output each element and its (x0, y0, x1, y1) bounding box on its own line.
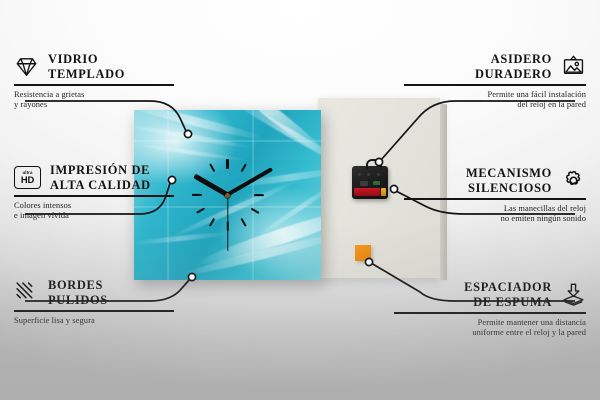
feature-desc-line1: Las manecillas del reloj (404, 204, 586, 215)
mechanism-detail (373, 181, 380, 185)
feature-title-line1: IMPRESIÓN DE (50, 163, 151, 178)
feature-asidero-duradero[interactable]: ASIDERO DURADERO Permite una fácil insta… (404, 52, 586, 111)
feature-desc-line1: Permite mantener una distancia (394, 318, 586, 329)
feature-bordes-pulidos[interactable]: BORDES PULIDOS Superficie lisa y segura (14, 278, 174, 326)
feature-title-line2: PULIDOS (48, 293, 108, 308)
feature-desc-line2: del reloj en la pared (404, 100, 586, 111)
feature-impresion-alta-calidad[interactable]: ultra HD IMPRESIÓN DE ALTA CALIDAD Color… (14, 163, 174, 222)
badge-hd-label: HD (21, 175, 34, 185)
feature-desc-line1: Resistencia a grietas (14, 90, 174, 101)
feature-title-line1: VIDRIO (48, 52, 125, 67)
feature-title-line1: ESPACIADOR (464, 280, 552, 295)
feature-desc-line1: Superficie lisa y segura (14, 316, 174, 327)
feature-desc-line2: uniforme entre el reloj y la pared (394, 328, 586, 339)
feature-title-line2: SILENCIOSO (466, 181, 552, 196)
divider (14, 195, 174, 197)
feature-desc-line2: no emiten ningún sonido (404, 214, 586, 225)
hanger-loop-icon (366, 159, 382, 170)
feature-desc-line1: Colores intensos (14, 201, 174, 212)
divider (14, 84, 174, 86)
divider (404, 198, 586, 200)
gear-icon (561, 168, 586, 193)
clock-mechanism (352, 166, 388, 199)
battery-terminal (381, 188, 386, 196)
feature-title-line2: DE ESPUMA (464, 295, 552, 310)
foam-spacer-pad (355, 245, 371, 261)
feature-header: ultra HD IMPRESIÓN DE ALTA CALIDAD (14, 163, 174, 192)
clock-center-pin (225, 193, 230, 198)
divider (404, 84, 586, 86)
mechanism-detail (358, 173, 361, 176)
diamond-icon (14, 54, 39, 79)
feature-title-line2: ALTA CALIDAD (50, 178, 151, 193)
foam-spacer-arrow-icon (561, 282, 586, 307)
feature-desc-line1: Permite una fácil instalación (404, 90, 586, 101)
feature-desc-line2: y rayones (14, 100, 174, 111)
feature-header: ESPACIADOR DE ESPUMA (394, 280, 586, 309)
feature-espaciador-de-espuma[interactable]: ESPACIADOR DE ESPUMA Permite mantener un… (394, 280, 586, 339)
infographic-canvas: VIDRIO TEMPLADO Resistencia a grietas y … (0, 0, 600, 400)
mechanism-detail (377, 173, 380, 176)
mechanism-detail (360, 181, 368, 186)
feature-header: VIDRIO TEMPLADO (14, 52, 174, 81)
feature-title-line1: BORDES (48, 278, 108, 293)
feature-mecanismo-silencioso[interactable]: MECANISMO SILENCIOSO Las manecillas del … (404, 166, 586, 225)
feature-title-line2: DURADERO (475, 67, 552, 82)
feature-vidrio-templado[interactable]: VIDRIO TEMPLADO Resistencia a grietas y … (14, 52, 174, 111)
ultra-hd-badge-icon: ultra HD (14, 166, 41, 189)
feature-header: ASIDERO DURADERO (404, 52, 586, 81)
feature-title-line2: TEMPLADO (48, 67, 125, 82)
feature-desc-line2: e imagen vívida (14, 211, 174, 222)
second-hand (227, 195, 228, 251)
polished-edges-icon (14, 280, 39, 305)
feature-title-line1: MECANISMO (466, 166, 552, 181)
mechanism-detail (367, 173, 370, 176)
picture-frame-hanger-icon (561, 54, 586, 79)
feature-header: BORDES PULIDOS (14, 278, 174, 307)
feature-title-line1: ASIDERO (475, 52, 552, 67)
divider (394, 312, 586, 314)
battery-label (354, 188, 380, 196)
feature-header: MECANISMO SILENCIOSO (404, 166, 586, 195)
divider (14, 310, 174, 312)
